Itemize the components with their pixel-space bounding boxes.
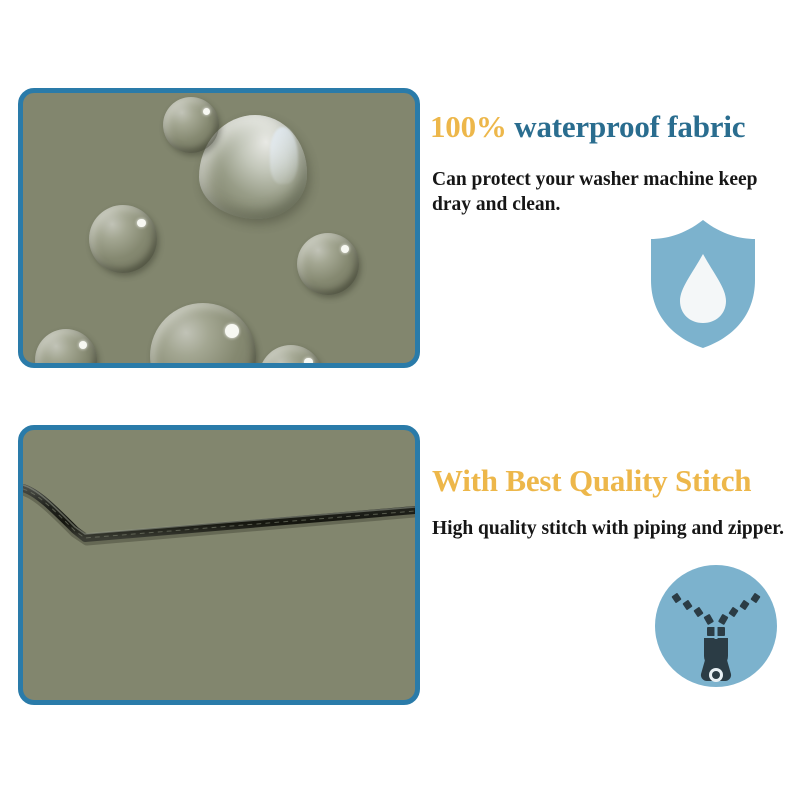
waterproof-body-text: Can protect your washer machine keep dra… [432, 168, 788, 218]
droplet-field [23, 93, 415, 363]
waterproof-heading: 100% waterproof fabric [430, 111, 745, 144]
teardrop-highlight [270, 127, 298, 183]
water-droplet [297, 233, 359, 295]
waterproof-heading-main: waterproof fabric [507, 109, 746, 144]
water-droplet [163, 97, 219, 153]
stitch-body-text: High quality stitch with piping and zipp… [432, 517, 784, 542]
zipper-icon [655, 565, 777, 687]
quality-stitch-photo [18, 425, 420, 705]
feature-block-stitch: With Best Quality Stitch High quality st… [0, 425, 800, 710]
shield-water-drop-icon [648, 218, 758, 350]
stitch-field [23, 430, 415, 700]
feature-block-waterproof: 100% waterproof fabric Can protect your … [0, 88, 800, 373]
water-droplet [195, 365, 251, 368]
waterproof-heading-accent: 100% [430, 109, 507, 144]
water-droplet [259, 345, 323, 368]
water-droplet [35, 329, 97, 368]
piping-seam-line [23, 430, 415, 700]
infographic-page: 100% waterproof fabric Can protect your … [0, 0, 800, 800]
water-droplet [150, 303, 256, 368]
water-droplet [89, 205, 157, 273]
waterproof-fabric-photo [18, 88, 420, 368]
stitch-heading: With Best Quality Stitch [432, 465, 751, 498]
